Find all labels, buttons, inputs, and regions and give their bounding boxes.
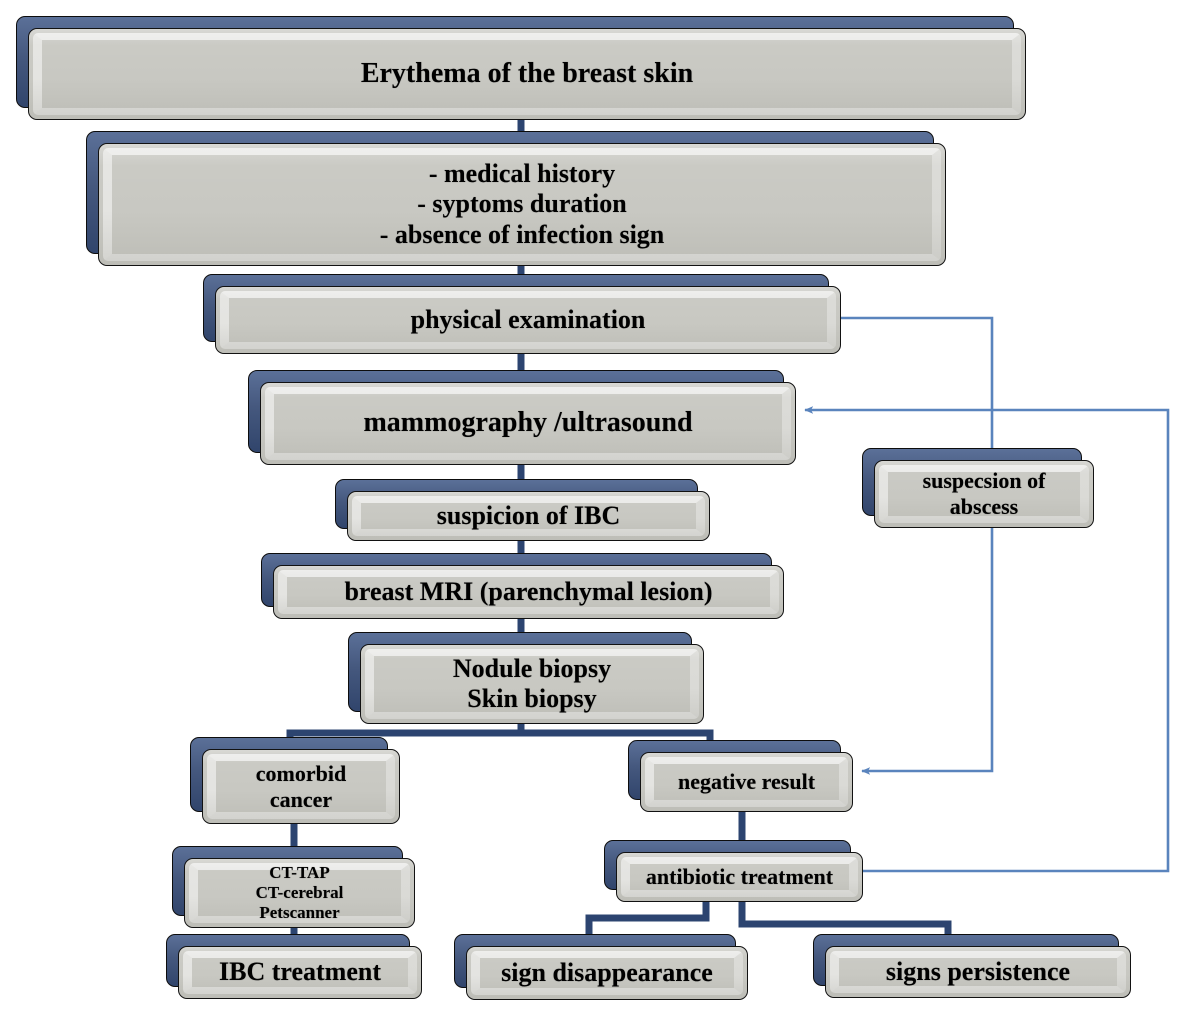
node-face: comorbid cancer — [202, 749, 400, 824]
node-label: physical examination — [397, 305, 660, 335]
node-label: Erythema of the breast skin — [347, 58, 707, 90]
node-breast-mri[interactable]: breast MRI (parenchymal lesion) — [261, 553, 784, 619]
node-comorbid-cancer[interactable]: comorbid cancer — [190, 737, 400, 824]
node-label: sign disappearance — [487, 958, 727, 988]
node-label: mammography /ultrasound — [349, 407, 706, 439]
node-face: negative result — [640, 752, 853, 812]
node-label: suspecsion of abscess — [909, 468, 1060, 519]
node-biopsy[interactable]: Nodule biopsy Skin biopsy — [348, 632, 704, 724]
node-label: - medical history - syptoms duration - a… — [366, 159, 679, 249]
node-label: signs persistence — [872, 957, 1084, 987]
edge-abscess-to-negative — [862, 528, 992, 771]
node-face: CT-TAP CT-cerebral Petscanner — [184, 858, 415, 928]
node-erythema[interactable]: Erythema of the breast skin — [16, 16, 1026, 120]
node-label: suspicion of IBC — [423, 501, 635, 531]
node-ibc-treatment[interactable]: IBC treatment — [166, 934, 422, 999]
node-face: IBC treatment — [178, 946, 422, 999]
node-ct-scans[interactable]: CT-TAP CT-cerebral Petscanner — [172, 846, 415, 928]
node-face: Nodule biopsy Skin biopsy — [360, 644, 704, 724]
node-face: sign disappearance — [466, 946, 748, 1000]
node-antibiotic-treatment[interactable]: antibiotic treatment — [604, 840, 863, 902]
node-label: CT-TAP CT-cerebral Petscanner — [242, 863, 358, 922]
node-face: breast MRI (parenchymal lesion) — [273, 565, 784, 619]
node-signs-persistence[interactable]: signs persistence — [813, 934, 1131, 998]
node-face: suspicion of IBC — [347, 491, 710, 541]
node-suspicion-of-abscess[interactable]: suspecsion of abscess — [862, 448, 1094, 528]
node-mammography-ultrasound[interactable]: mammography /ultrasound — [248, 370, 796, 465]
node-face: antibiotic treatment — [616, 852, 863, 902]
node-label: comorbid cancer — [242, 761, 360, 812]
node-face: physical examination — [215, 286, 841, 354]
feedback-group — [805, 318, 1168, 871]
node-negative-result[interactable]: negative result — [628, 740, 853, 812]
node-sign-disappearance[interactable]: sign disappearance — [454, 934, 748, 1000]
node-label: Nodule biopsy Skin biopsy — [439, 654, 625, 714]
node-label: antibiotic treatment — [632, 864, 847, 890]
node-label: breast MRI (parenchymal lesion) — [330, 577, 726, 607]
node-label: IBC treatment — [205, 957, 395, 987]
node-face: Erythema of the breast skin — [28, 28, 1026, 120]
flowchart-canvas: Erythema of the breast skin - medical hi… — [0, 0, 1181, 1017]
edge-physical-to-abscess — [841, 318, 992, 448]
node-physical-examination[interactable]: physical examination — [203, 274, 841, 354]
node-label: negative result — [664, 769, 829, 795]
node-history[interactable]: - medical history - syptoms duration - a… — [86, 131, 946, 266]
node-face: suspecsion of abscess — [874, 460, 1094, 528]
node-face: - medical history - syptoms duration - a… — [98, 143, 946, 266]
node-face: signs persistence — [825, 946, 1131, 998]
node-suspicion-of-ibc[interactable]: suspicion of IBC — [335, 479, 710, 541]
node-face: mammography /ultrasound — [260, 382, 796, 465]
